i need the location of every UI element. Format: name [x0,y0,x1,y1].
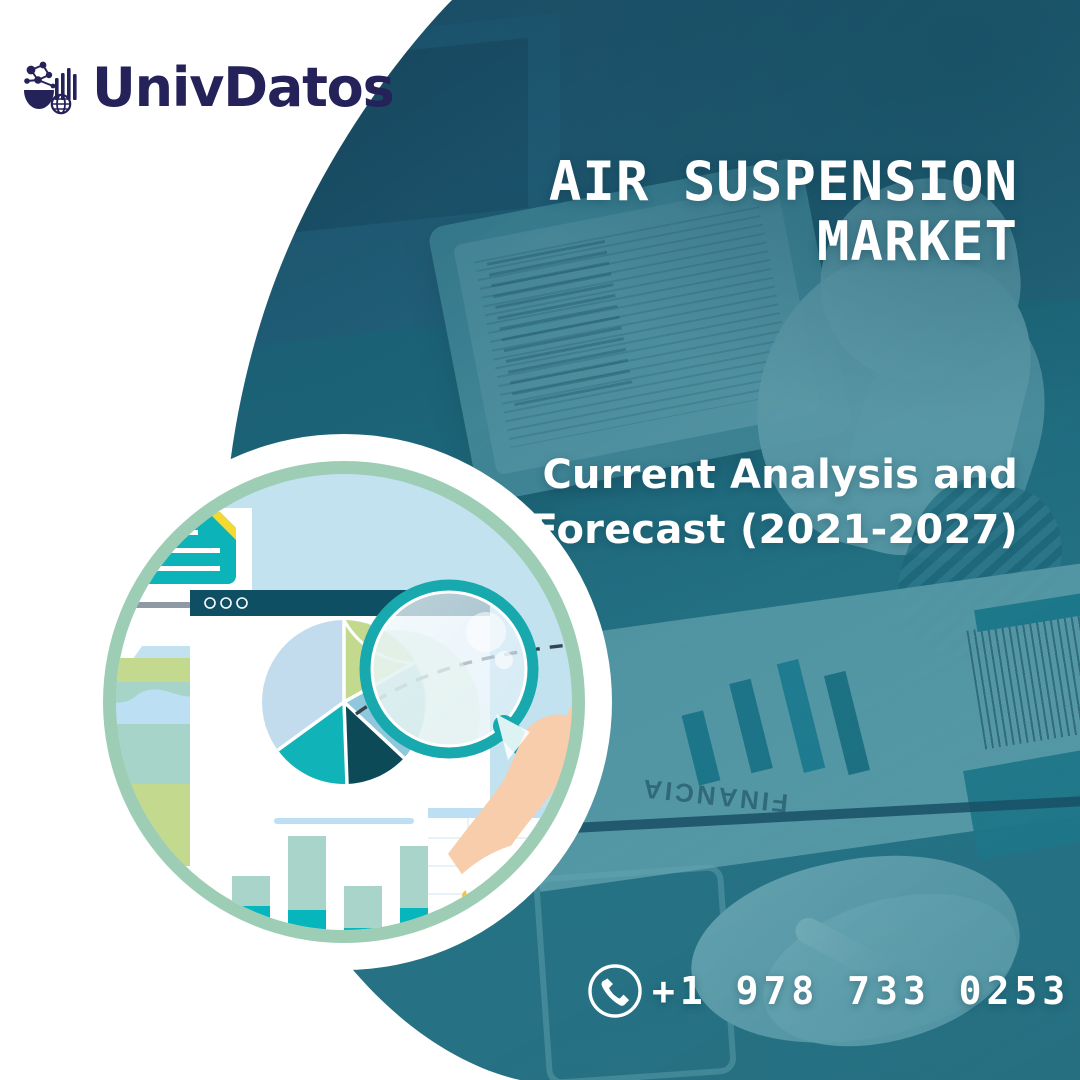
headline-line-2: MARKET [398,212,1018,272]
brand-name: UnivDatos [92,61,394,115]
poster-canvas: FINANCIA [0,0,1080,1080]
data-analysis-illustration [56,414,632,990]
contact-phone[interactable]: +1 978 733 0253 [586,962,1070,1020]
headline-line-1: AIR SUSPENSION [549,150,1018,213]
page-title: AIR SUSPENSION MARKET [398,152,1018,273]
phone-number: +1 978 733 0253 [652,969,1070,1013]
univdatos-logo-icon [18,56,82,120]
brand-logo[interactable]: UnivDatos [18,56,394,120]
